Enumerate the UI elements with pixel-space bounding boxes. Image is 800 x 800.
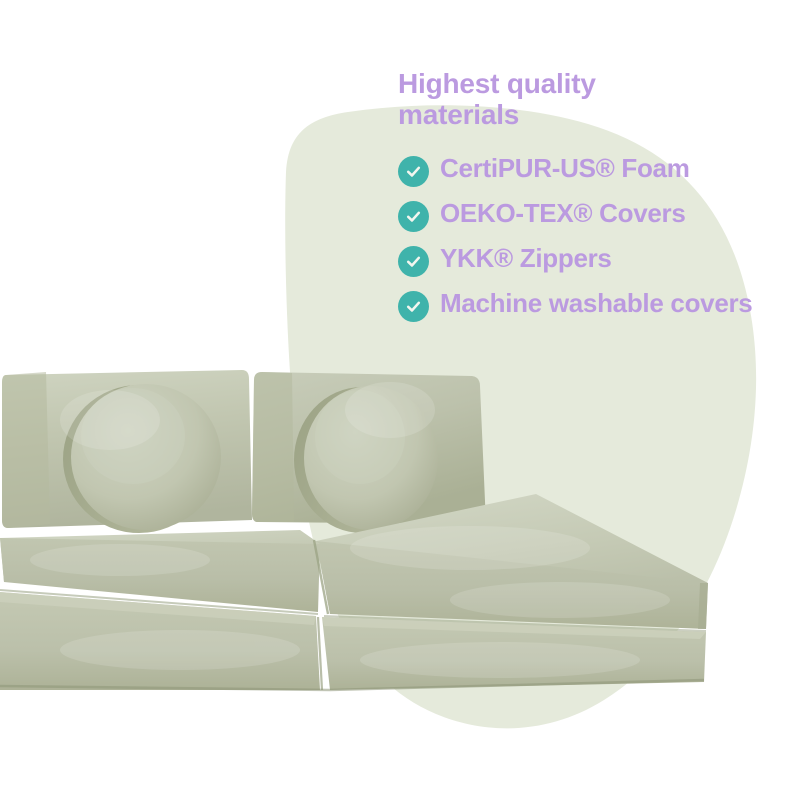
couch-group — [0, 370, 708, 690]
feature-label: OEKO-TEX® Covers — [440, 198, 686, 229]
check-circle-icon — [398, 156, 429, 187]
cushion-split-line-left — [0, 590, 318, 614]
round-pillow-right — [304, 386, 438, 530]
feature-label: YKK® Zippers — [440, 243, 612, 274]
page-title: Highest quality materials — [398, 68, 790, 131]
base-cushion-left-top-edge — [0, 592, 316, 625]
round-pillow-right-highlight — [315, 390, 405, 484]
list-item: YKK® Zippers — [398, 243, 790, 277]
round-pillow-right-rim — [294, 387, 430, 533]
seat-cushion-right-front — [316, 541, 708, 629]
feature-list: CertiPUR-US® Foam OEKO-TEX® Covers YKK® … — [398, 153, 790, 322]
seat-cushion-right-top — [316, 494, 708, 614]
check-circle-icon — [398, 291, 429, 322]
list-item: CertiPUR-US® Foam — [398, 153, 790, 187]
check-circle-icon — [398, 201, 429, 232]
base-cushion-right-top-edge — [322, 617, 706, 639]
seat-cushion-seam — [314, 540, 328, 614]
base-cushion-seam — [318, 617, 322, 690]
couch-bottom-hem — [0, 680, 704, 690]
backrest-right — [252, 372, 486, 524]
list-item: Machine washable covers — [398, 288, 790, 322]
seat-cushion-left-top — [0, 530, 320, 582]
fabric-texture — [30, 382, 670, 678]
round-pillow-left-rim — [63, 385, 215, 533]
check-circle-icon — [398, 246, 429, 277]
list-item: OEKO-TEX® Covers — [398, 198, 790, 232]
promo-graphic: Highest quality materials CertiPUR-US® F… — [0, 0, 800, 800]
base-cushion-right — [322, 617, 706, 690]
seat-cushion-left-front — [0, 538, 320, 612]
backrest-left-side-shade — [2, 372, 50, 528]
cushion-split-line-right — [324, 616, 706, 631]
feature-label: CertiPUR-US® Foam — [440, 153, 690, 184]
feature-label: Machine washable covers — [440, 288, 752, 319]
feature-callout: Highest quality materials CertiPUR-US® F… — [398, 68, 790, 322]
round-pillow-left — [71, 384, 221, 530]
backrest-right-side-shade — [252, 372, 294, 522]
base-cushion-left — [0, 592, 320, 690]
seat-cushion-right-side — [698, 583, 708, 629]
backrest-left — [2, 370, 252, 528]
round-pillow-left-highlight — [81, 388, 185, 484]
